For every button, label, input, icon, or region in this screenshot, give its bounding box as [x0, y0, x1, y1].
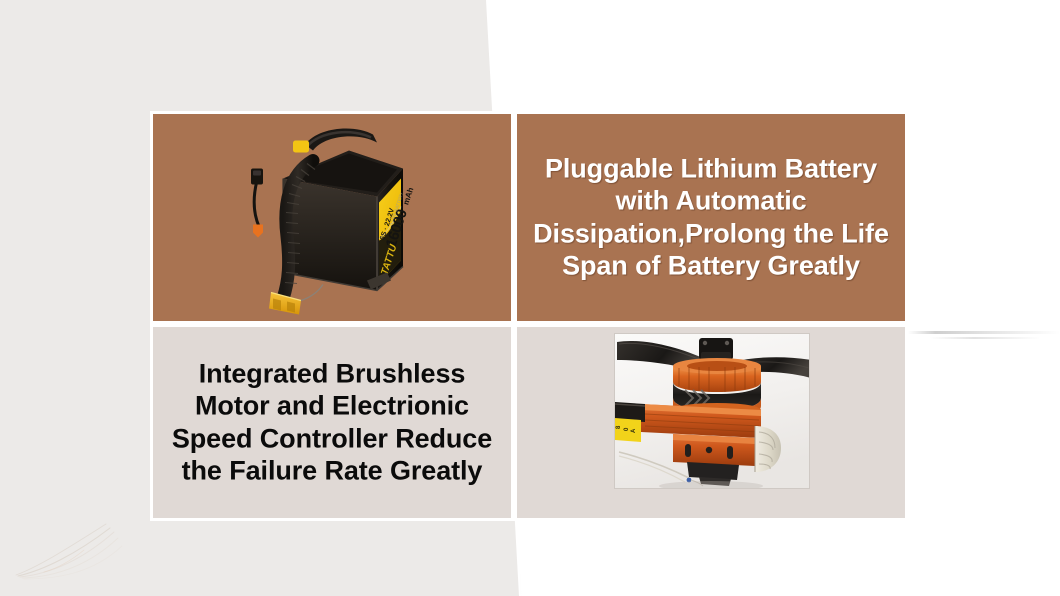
motor-feature-text: Integrated Brushless Motor and Electrion…	[153, 357, 511, 488]
svg-text:A: A	[631, 428, 637, 433]
motor-image-cell: 8 0 A	[514, 324, 908, 521]
motor-text-cell: Integrated Brushless Motor and Electrion…	[150, 324, 514, 521]
wheat-sprig-decoration	[14, 520, 144, 582]
battery-image-cell: 16000 mAh 6S · 22.2V TATTU LI-PO BATTERY	[150, 111, 514, 324]
battery-text-cell: Pluggable Lithium Battery with Automatic…	[514, 111, 908, 324]
svg-text:mAh: mAh	[401, 186, 415, 206]
slide-canvas: 16000 mAh 6S · 22.2V TATTU LI-PO BATTERY	[0, 0, 1060, 596]
battery-feature-text: Pluggable Lithium Battery with Automatic…	[517, 152, 905, 283]
integrated-brushless-motor-esc-photo: 8 0 A	[615, 334, 810, 489]
hairline-accent	[908, 331, 1060, 334]
feature-comparison-table: 16000 mAh 6S · 22.2V TATTU LI-PO BATTERY	[150, 111, 908, 521]
motor-photo-frame: 8 0 A	[614, 333, 810, 489]
hairline-accent-secondary	[930, 337, 1040, 339]
pluggable-lithium-battery-pack-photo: 16000 mAh 6S · 22.2V TATTU LI-PO BATTERY	[227, 120, 437, 315]
